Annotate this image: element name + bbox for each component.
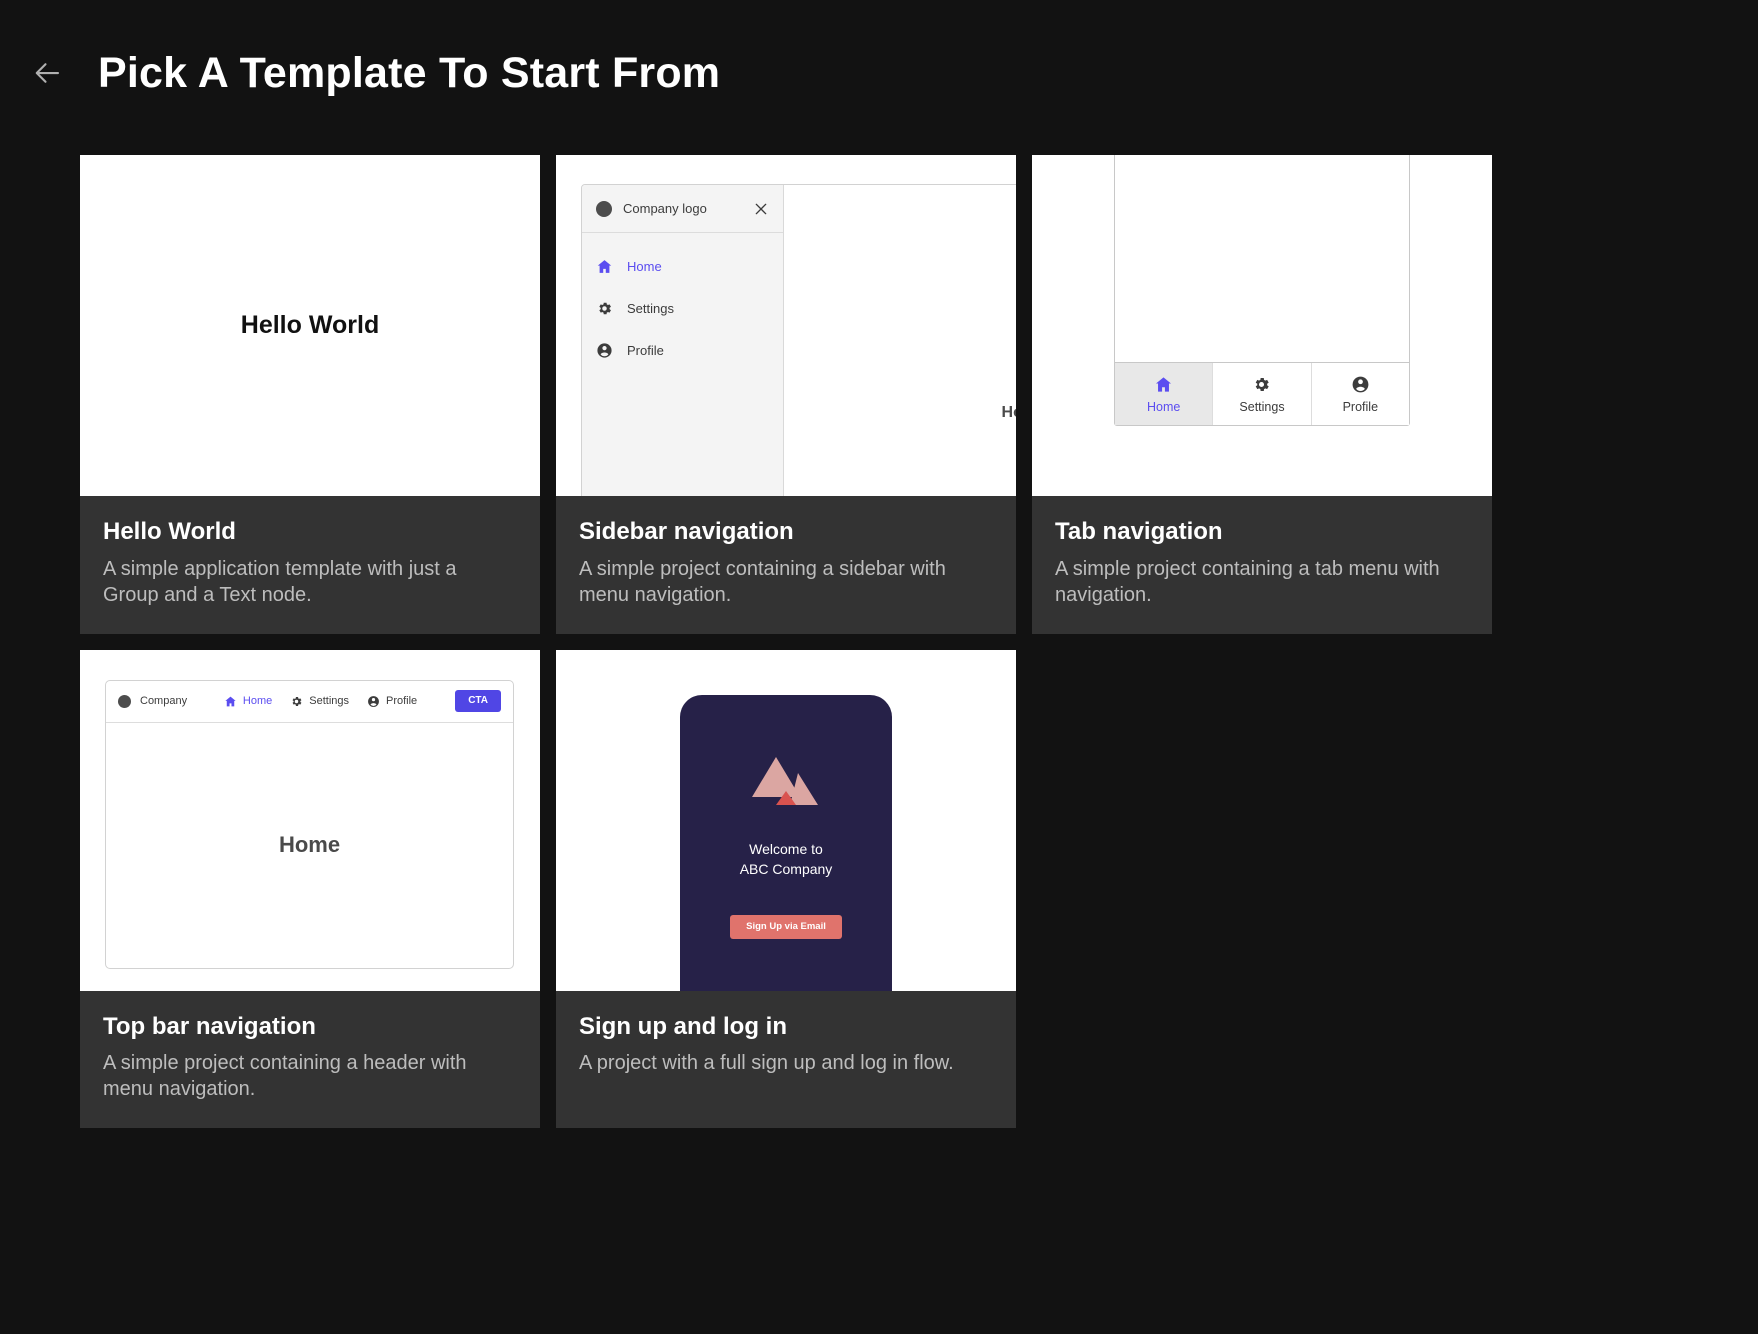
template-card-top-bar-navigation[interactable]: Company Home Sett (80, 650, 540, 1129)
topbar-nav-item-label: Settings (309, 695, 349, 707)
sidebar-content-area: Home (784, 185, 1016, 496)
card-title: Tab navigation (1055, 518, 1469, 546)
topbar-nav-item-label: Profile (386, 695, 417, 707)
sidebar-logo-row: Company logo (582, 185, 783, 233)
arrow-left-icon (33, 58, 63, 88)
account-circle-icon (367, 695, 380, 708)
topbar-header: Company Home Sett (106, 681, 513, 723)
card-caption: Tab navigation A simple project containi… (1032, 496, 1492, 634)
abc-company-logo-icon (746, 757, 826, 821)
page-header: Pick A Template To Start From (0, 0, 1758, 112)
sidebar-item-profile[interactable]: Profile (582, 329, 783, 371)
preview-top-bar-navigation: Company Home Sett (80, 650, 540, 991)
preview-hello-text: Hello World (241, 311, 379, 340)
back-button[interactable] (26, 51, 70, 95)
tab-item-label: Settings (1239, 400, 1284, 414)
template-grid: Hello World Hello World A simple applica… (0, 112, 1758, 1128)
company-logo-icon (118, 695, 131, 708)
topbar-preview-frame: Company Home Sett (105, 680, 514, 969)
gear-icon (290, 695, 303, 708)
preview-tab-navigation: Home Settings Profile (1032, 155, 1492, 496)
card-caption: Top bar navigation A simple project cont… (80, 991, 540, 1129)
sidebar-preview-frame: Company logo Home (581, 184, 1016, 496)
preview-hello-world: Hello World (80, 155, 540, 496)
welcome-line-1: Welcome to (740, 839, 833, 859)
sidebar-panel: Company logo Home (582, 185, 784, 496)
sidebar-content-text: Home (1002, 404, 1016, 422)
preview-sidebar-navigation: Company logo Home (556, 155, 1016, 496)
sign-up-via-email-button[interactable]: Sign Up via Email (730, 915, 842, 939)
topbar-nav: Home Settings Profile (187, 690, 501, 712)
page-title: Pick A Template To Start From (98, 52, 720, 95)
sidebar-item-label: Profile (627, 343, 664, 358)
template-card-hello-world[interactable]: Hello World Hello World A simple applica… (80, 155, 540, 634)
card-title: Hello World (103, 518, 517, 546)
card-description: A simple project containing a header wit… (103, 1050, 517, 1102)
sidebar-item-label: Home (627, 259, 662, 274)
home-icon (224, 695, 237, 708)
close-icon[interactable] (753, 201, 769, 217)
template-card-tab-navigation[interactable]: Home Settings Profile (1032, 155, 1492, 634)
tab-item-label: Profile (1343, 400, 1378, 414)
card-description: A simple application template with just … (103, 556, 517, 608)
home-icon (596, 258, 613, 275)
card-caption: Sign up and log in A project with a full… (556, 991, 1016, 1129)
phone-mockup: Welcome to ABC Company Sign Up via Email (680, 695, 892, 991)
brand: Company (118, 695, 187, 708)
topbar-nav-item-label: Home (243, 695, 272, 707)
sidebar-item-settings[interactable]: Settings (582, 287, 783, 329)
tab-item-profile[interactable]: Profile (1312, 363, 1409, 425)
card-title: Sidebar navigation (579, 518, 993, 546)
topbar-nav-item-home[interactable]: Home (224, 695, 272, 708)
topbar-nav-item-settings[interactable]: Settings (290, 695, 349, 708)
tab-item-settings[interactable]: Settings (1213, 363, 1311, 425)
welcome-line-2: ABC Company (740, 859, 833, 879)
topbar-content-text: Home (279, 832, 340, 858)
welcome-text: Welcome to ABC Company (740, 839, 833, 880)
card-caption: Hello World A simple application templat… (80, 496, 540, 634)
gear-icon (596, 300, 613, 317)
card-description: A simple project containing a tab menu w… (1055, 556, 1469, 608)
card-title: Top bar navigation (103, 1013, 517, 1041)
cta-button[interactable]: CTA (455, 690, 501, 712)
brand-label: Company (140, 695, 187, 707)
card-title: Sign up and log in (579, 1013, 993, 1041)
topbar-content-area: Home (106, 723, 513, 968)
preview-sign-up-and-log-in: Welcome to ABC Company Sign Up via Email (556, 650, 1016, 991)
tab-content-area (1115, 155, 1409, 362)
gear-icon (1252, 375, 1271, 394)
sidebar-item-label: Settings (627, 301, 674, 316)
card-description: A simple project containing a sidebar wi… (579, 556, 993, 608)
tab-preview-frame: Home Settings Profile (1114, 155, 1410, 426)
home-icon (1154, 375, 1173, 394)
tab-item-home[interactable]: Home (1115, 363, 1213, 425)
sidebar-item-home[interactable]: Home (582, 245, 783, 287)
tab-item-label: Home (1147, 400, 1180, 414)
tab-bar: Home Settings Profile (1115, 362, 1409, 425)
card-description: A project with a full sign up and log in… (579, 1050, 993, 1076)
account-circle-icon (1351, 375, 1370, 394)
template-card-sign-up-and-log-in[interactable]: Welcome to ABC Company Sign Up via Email… (556, 650, 1016, 1129)
company-logo-label: Company logo (623, 201, 753, 216)
card-caption: Sidebar navigation A simple project cont… (556, 496, 1016, 634)
sidebar-menu: Home Settings Profile (582, 233, 783, 371)
account-circle-icon (596, 342, 613, 359)
topbar-nav-item-profile[interactable]: Profile (367, 695, 417, 708)
company-logo-icon (596, 201, 612, 217)
template-card-sidebar-navigation[interactable]: Company logo Home (556, 155, 1016, 634)
